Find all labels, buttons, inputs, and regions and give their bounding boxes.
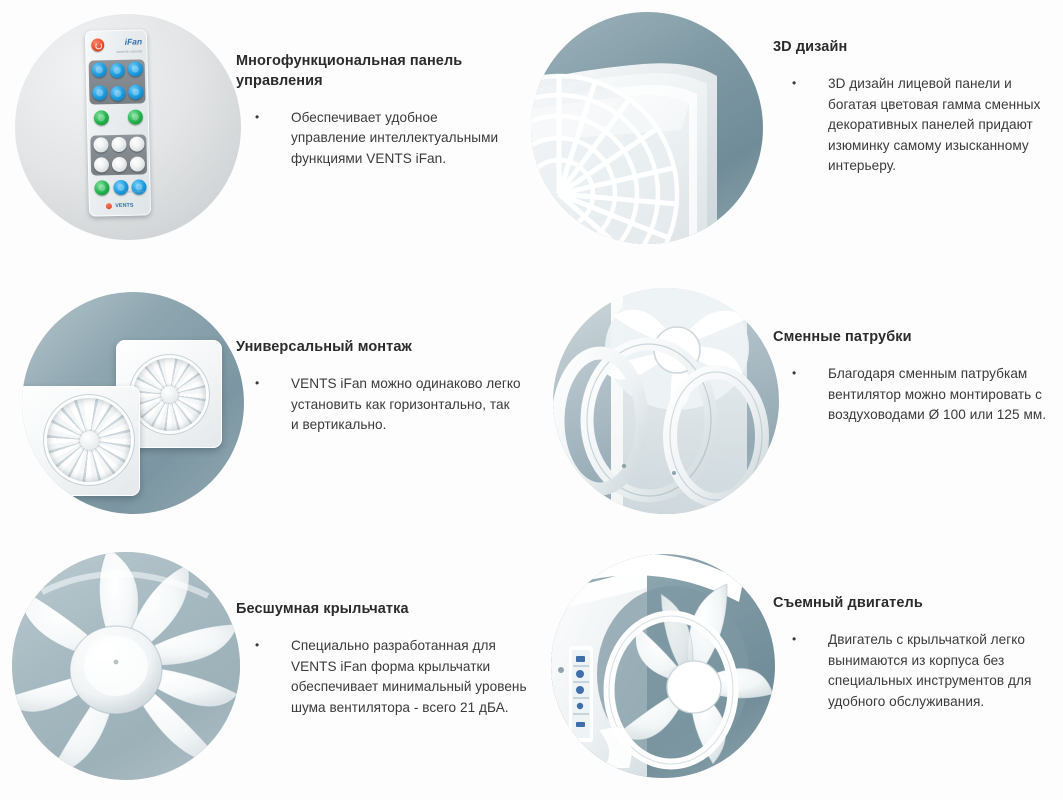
bullet-icon: • xyxy=(255,636,259,655)
spigot-artwork xyxy=(553,288,779,514)
bullet-icon: • xyxy=(792,364,796,383)
feature-title: Многофункциональная панель управления xyxy=(236,52,516,92)
front-panel-corner-photo xyxy=(531,12,763,244)
remote-button-g2 xyxy=(128,109,143,124)
feature-body-text: Благодаря сменным патрубкам вентилятор м… xyxy=(828,364,1053,426)
fan-hub-front xyxy=(80,431,99,450)
feature-text-control-panel: Многофункциональная панель управления • … xyxy=(236,52,516,170)
impeller-artwork xyxy=(12,552,240,780)
feature-body: • Благодаря сменным патрубкам вентилятор… xyxy=(773,364,1053,426)
feature-body: • Двигатель с крыльчаткой легко вынимают… xyxy=(773,630,1063,713)
feature-text-3d-design: 3D дизайн • 3D дизайн лицевой панели и б… xyxy=(773,38,1055,177)
feature-card-removable-motor: Съемный двигатель • Двигатель с крыльчат… xyxy=(531,540,1063,800)
feature-title: Съемный двигатель xyxy=(773,594,1063,614)
feature-body: • Обеспечивает удобное управление интелл… xyxy=(236,108,516,170)
feature-text-removable-motor: Съемный двигатель • Двигатель с крыльчат… xyxy=(773,594,1063,712)
feature-text-universal-mounting: Универсальный монтаж • VENTS iFan можно … xyxy=(236,338,521,436)
feature-title: Бесшумная крыльчатка xyxy=(236,600,531,620)
feature-grid: iFan remote control xyxy=(0,0,1063,800)
two-fan-faceplates-photo xyxy=(22,292,244,514)
feature-text-replaceable-spigots: Сменные патрубки • Благодаря сменным пат… xyxy=(773,328,1053,426)
remote-footer-brand: VENTS xyxy=(94,198,146,212)
remote-button-g3 xyxy=(94,180,109,195)
feature-card-3d-design: 3D дизайн • 3D дизайн лицевой панели и б… xyxy=(531,0,1063,270)
front-panel-artwork xyxy=(531,12,763,244)
remote-brand-text: iFan xyxy=(125,36,143,46)
feature-body-text: VENTS iFan можно одинаково легко установ… xyxy=(291,374,521,436)
removable-motor-artwork xyxy=(551,554,775,778)
feature-card-replaceable-spigots: Сменные патрубки • Благодаря сменным пат… xyxy=(531,270,1063,540)
feature-card-control-panel: iFan remote control xyxy=(0,0,531,270)
fan-hub-back xyxy=(161,386,178,403)
faceplate-front xyxy=(22,386,140,496)
bullet-icon: • xyxy=(255,374,259,393)
feature-card-universal-mounting: Универсальный монтаж • VENTS iFan можно … xyxy=(0,270,531,540)
feature-title: 3D дизайн xyxy=(773,38,1055,58)
bullet-icon: • xyxy=(792,74,796,93)
vents-logo-icon xyxy=(106,203,112,209)
feature-body-text: 3D дизайн лицевой панели и богатая цвето… xyxy=(828,74,1055,177)
remote-brand-subtext: remote control xyxy=(108,46,142,57)
spigot-rings-photo xyxy=(553,288,779,514)
bullet-icon: • xyxy=(255,108,259,127)
remote-brand-label: iFan remote control xyxy=(108,36,142,52)
impeller-photo xyxy=(12,552,240,780)
feature-title: Сменные патрубки xyxy=(773,328,1053,348)
remote-button-g1 xyxy=(94,110,109,125)
remote-micro-label: iFan remote xyxy=(125,189,144,193)
feature-body-text: Специально разработанная для VENTS iFan … xyxy=(291,636,531,719)
remote-control-photo: iFan remote control xyxy=(15,14,241,240)
feature-title: Универсальный монтаж xyxy=(236,338,521,358)
power-button-icon xyxy=(91,38,104,51)
feature-body: • Специально разработанная для VENTS iFa… xyxy=(236,636,531,719)
feature-card-silent-impeller: Бесшумная крыльчатка • Специально разраб… xyxy=(0,540,531,800)
remote-control-device: iFan remote control xyxy=(85,29,151,216)
feature-text-silent-impeller: Бесшумная крыльчатка • Специально разраб… xyxy=(236,600,531,718)
remote-footer-brand-text: VENTS xyxy=(115,202,133,208)
feature-body: • 3D дизайн лицевой панели и богатая цве… xyxy=(773,74,1055,177)
feature-body-text: Двигатель с крыльчаткой легко вынимаются… xyxy=(828,630,1063,713)
feature-body-text: Обеспечивает удобное управление интеллек… xyxy=(291,108,516,170)
bullet-icon: • xyxy=(792,630,796,649)
feature-body: • VENTS iFan можно одинаково легко устан… xyxy=(236,374,521,436)
removable-motor-photo xyxy=(551,554,775,778)
